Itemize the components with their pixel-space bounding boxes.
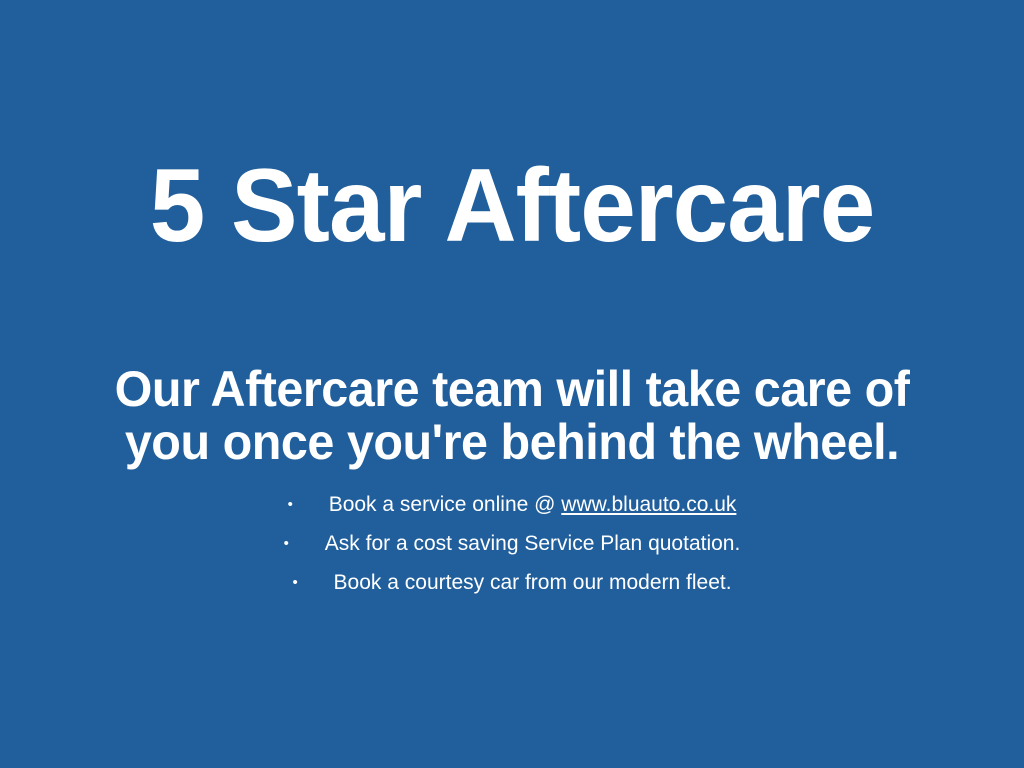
subtitle-line-2: you once you're behind the wheel.: [15, 416, 1008, 469]
subtitle-line-1: Our Aftercare team will take care of: [15, 363, 1008, 416]
list-item: • Book a courtesy car from our modern fl…: [0, 562, 1024, 601]
list-item: • Book a service online @ www.bluauto.co…: [0, 484, 1024, 523]
title-block: 5 Star Aftercare: [0, 150, 1024, 262]
website-link[interactable]: www.bluauto.co.uk: [561, 493, 736, 516]
bullet-dot-icon: •: [288, 497, 293, 512]
list-item-text-lead: Book a service online @: [329, 493, 562, 516]
presentation-slide: 5 Star Aftercare Our Aftercare team will…: [0, 0, 1024, 768]
bullet-dot-icon: •: [284, 536, 289, 551]
bullet-list: • Book a service online @ www.bluauto.co…: [0, 484, 1024, 601]
list-item-text: Book a courtesy car from our modern flee…: [334, 572, 732, 593]
bullet-dot-icon: •: [292, 575, 297, 590]
page-title: 5 Star Aftercare: [20, 150, 1003, 262]
subtitle-block: Our Aftercare team will take care of you…: [0, 363, 1024, 469]
list-item-text: Book a service online @ www.bluauto.co.u…: [329, 494, 737, 515]
list-item: • Ask for a cost saving Service Plan quo…: [0, 523, 1024, 562]
list-item-text: Ask for a cost saving Service Plan quota…: [325, 533, 741, 554]
